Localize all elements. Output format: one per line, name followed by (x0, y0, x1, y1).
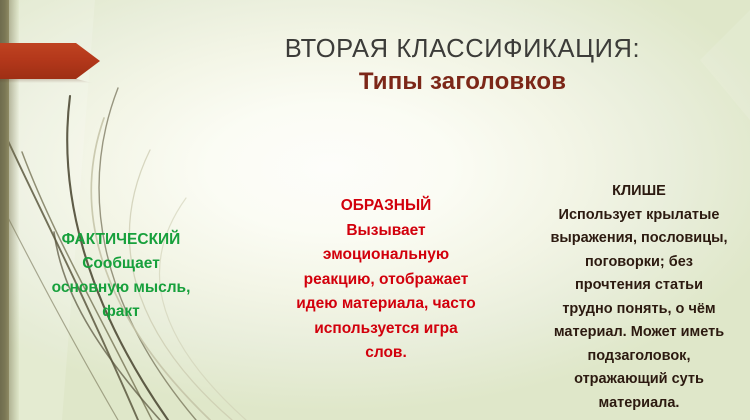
presentation-slide: ВТОРАЯ КЛАССИФИКАЦИЯ: Типы заголовков ФА… (0, 0, 750, 420)
column-body-figurative: Вызывает эмоциональную реакцию, отобража… (268, 219, 504, 366)
column-body-factual: Сообщает основную мысль, факт (18, 252, 224, 324)
content-column-cliche: КЛИШЕ Использует крылатые выражения, пос… (528, 180, 750, 415)
column-heading-figurative: ОБРАЗНЫЙ (268, 194, 504, 219)
column-body-cliche: Использует крылатые выражения, пословицы… (528, 204, 750, 416)
column-heading-factual: ФАКТИЧЕСКИЙ (18, 228, 224, 252)
title-line-primary: ВТОРАЯ КЛАССИФИКАЦИЯ: (190, 34, 735, 64)
arrow-banner (0, 43, 100, 79)
slide-title: ВТОРАЯ КЛАССИФИКАЦИЯ: Типы заголовков (190, 34, 735, 96)
content-column-factual: ФАКТИЧЕСКИЙ Сообщает основную мысль, фак… (18, 228, 224, 324)
title-line-secondary: Типы заголовков (190, 67, 735, 96)
content-column-figurative: ОБРАЗНЫЙ Вызывает эмоциональную реакцию,… (268, 194, 504, 366)
arrow-banner-shadow (0, 79, 96, 83)
column-heading-cliche: КЛИШЕ (528, 180, 750, 204)
